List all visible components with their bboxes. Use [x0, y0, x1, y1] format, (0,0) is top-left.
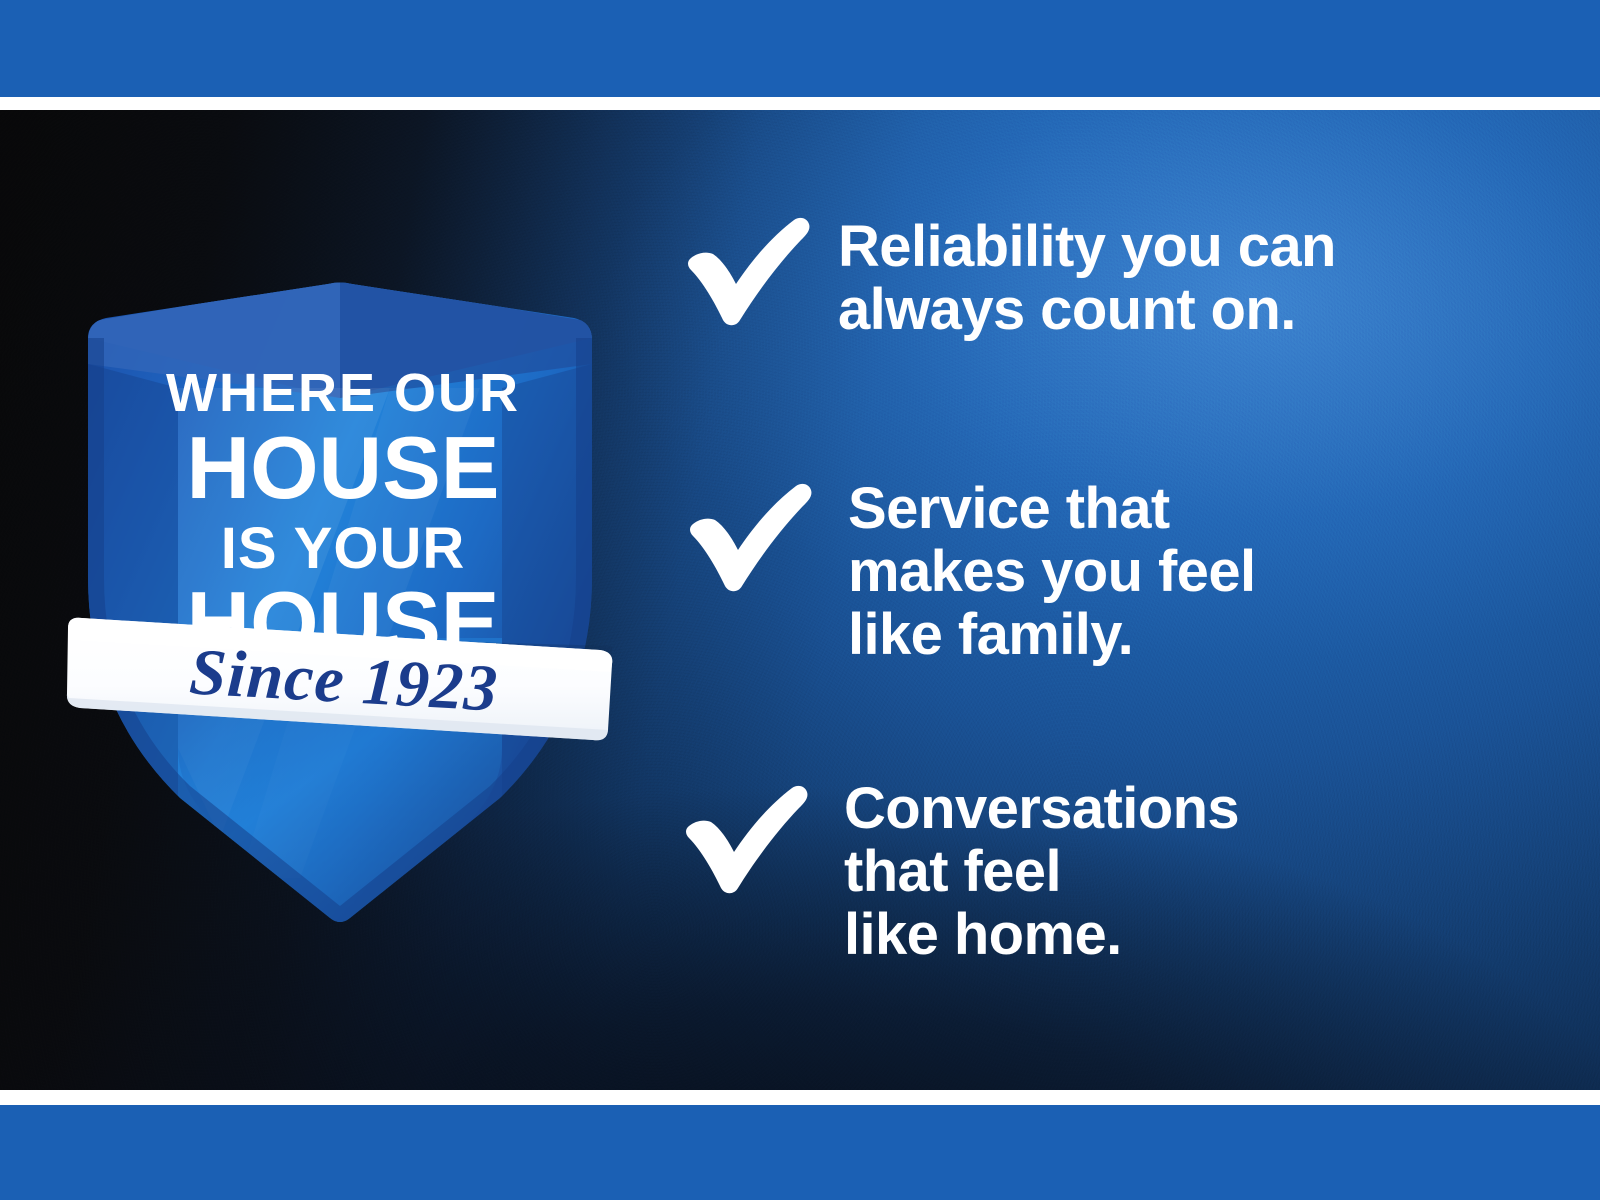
benefit-item: Reliability you can always count on. — [670, 210, 1336, 342]
check-icon — [672, 476, 822, 596]
badge-line-3: IS YOUR — [221, 516, 465, 581]
benefits-list: Reliability you can always count on. Ser… — [660, 200, 1540, 1030]
benefit-item: Service that makes you feel like family. — [672, 476, 1255, 667]
benefit-text: Service that makes you feel like family. — [848, 476, 1255, 667]
bottom-brand-bar — [0, 1105, 1600, 1200]
top-brand-bar — [0, 0, 1600, 97]
check-icon — [668, 778, 818, 898]
check-icon — [670, 210, 820, 330]
shield-badge: WHERE OUR HOUSE IS YOUR HOUSE Since 1923 — [60, 278, 620, 928]
badge-line-1: WHERE OUR — [166, 363, 520, 423]
promo-graphic: WHERE OUR HOUSE IS YOUR HOUSE Since 1923 — [0, 0, 1600, 1200]
benefit-text: Conversations that feel like home. — [844, 778, 1239, 967]
benefit-text: Reliability you can always count on. — [838, 210, 1336, 342]
benefit-item: Conversations that feel like home. — [668, 778, 1239, 967]
badge-line-2: HOUSE — [187, 418, 500, 517]
